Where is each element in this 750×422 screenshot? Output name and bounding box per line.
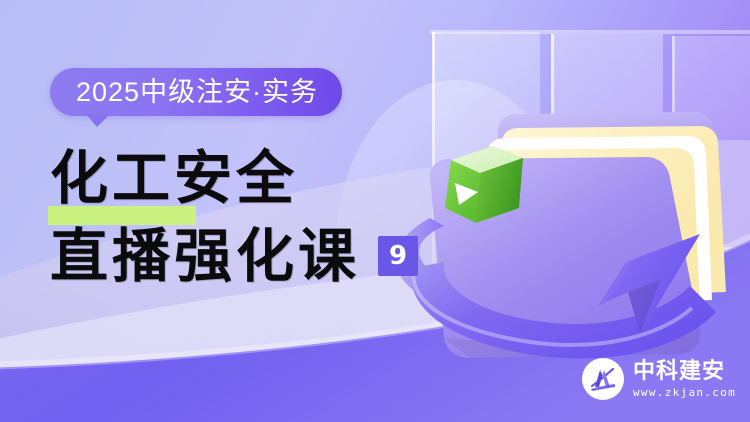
headline-block: 2025中级注安·实务 化工安全 直播强化课 9 (50, 68, 470, 294)
headline-line-1: 化工安全 (50, 140, 470, 216)
brand-logo-text: 中科建安 www.zkjan.com (633, 361, 736, 398)
course-promo-banner: 2025中级注安·实务 化工安全 直播强化课 9 中科建安 www.zk (0, 0, 750, 422)
course-category-badge: 2025中级注安·实务 (50, 68, 342, 116)
headline-wrap: 化工安全 直播强化课 9 (50, 140, 470, 294)
arrow-head-shade (628, 280, 660, 334)
headline-line-2: 直播强化课 (50, 218, 360, 294)
paper-cream-back (498, 126, 726, 300)
brand-logo-mark (582, 358, 624, 400)
paper-cream-front (468, 148, 700, 320)
course-category-label: 2025中级注安·实务 (76, 77, 318, 107)
cube-side (476, 158, 523, 223)
folder-front-shade (444, 312, 700, 358)
zkjan-emblem-icon (586, 362, 620, 396)
arrow-head (598, 234, 700, 334)
brand-name: 中科建安 (633, 361, 736, 383)
badge-tail-icon (86, 114, 110, 127)
folder-tab-highlight (636, 140, 708, 154)
episode-number-badge: 9 (378, 236, 418, 276)
folder-front (430, 157, 700, 358)
brand-url: www.zkjan.com (633, 387, 736, 398)
paper-white (482, 136, 712, 308)
folder-back (498, 112, 714, 152)
headline-line-2-row: 直播强化课 9 (50, 218, 470, 294)
glass-panels (430, 30, 750, 392)
brand-logo: 中科建安 www.zkjan.com (582, 358, 736, 400)
